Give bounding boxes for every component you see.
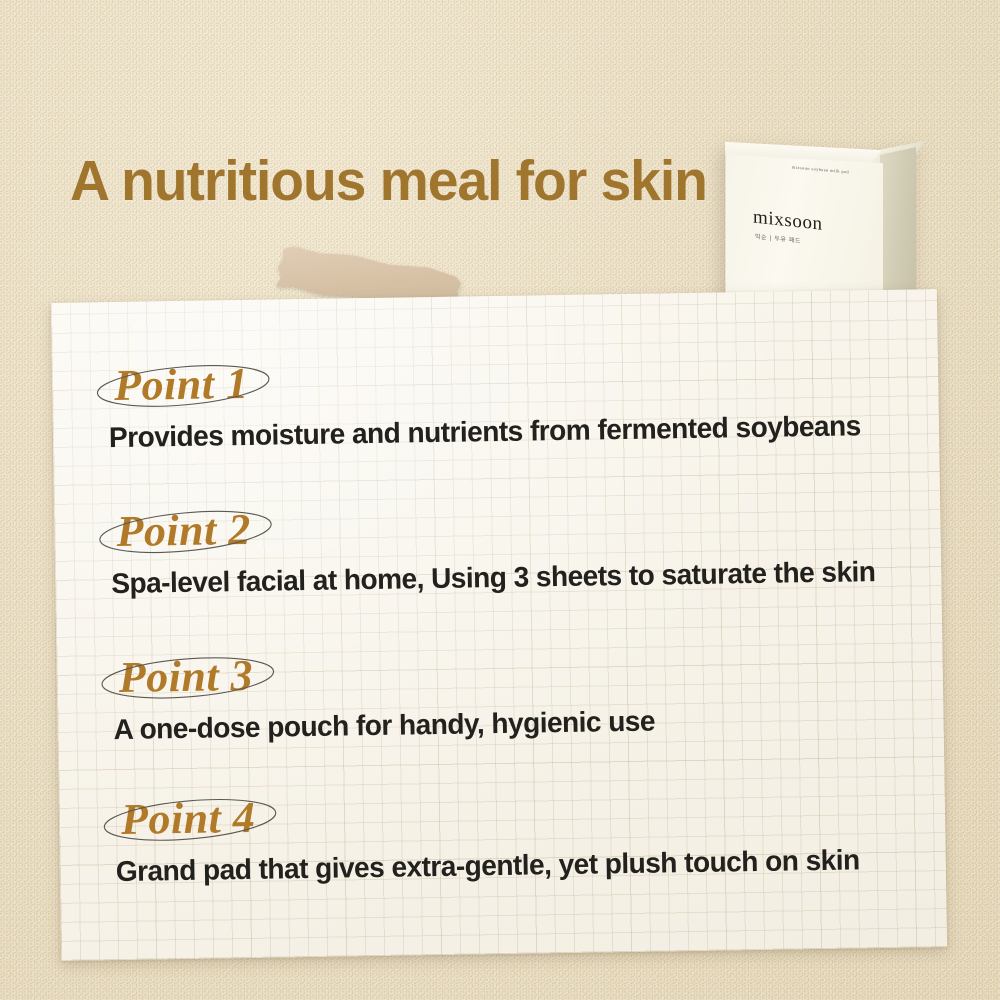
point-label-4: Point 4 — [115, 790, 262, 848]
point-item-2: Point 2 Spa-level facial at home, Using … — [110, 491, 921, 601]
point-label-1: Point 1 — [108, 356, 255, 414]
point-label-wrap-2: Point 2 — [110, 502, 257, 560]
point-label-2: Point 2 — [110, 502, 257, 560]
point-description-2: Spa-level facial at home, Using 3 sheets… — [111, 556, 909, 602]
package-top-text: mixsoon soybean milk pad — [792, 164, 849, 174]
point-label-wrap-3: Point 3 — [112, 648, 259, 706]
product-infographic: A nutritious meal for skin #soybeanmilkp… — [0, 0, 1000, 1000]
point-item-4: Point 4 Grand pad that gives extra-gentl… — [115, 779, 926, 889]
point-item-1: Point 1 Provides moisture and nutrients … — [108, 345, 919, 455]
point-label-3: Point 3 — [112, 648, 259, 706]
point-item-3: Point 3 A one-dose pouch for handy, hygi… — [112, 637, 923, 747]
point-description-4: Grand pad that gives extra-gentle, yet p… — [116, 844, 914, 890]
note-paper-card: Point 1 Provides moisture and nutrients … — [51, 289, 947, 961]
point-label-wrap-1: Point 1 — [108, 356, 255, 414]
point-label-wrap-4: Point 4 — [115, 790, 262, 848]
point-description-3: A one-dose pouch for handy, hygienic use — [113, 702, 911, 748]
brand-korean-subtitle: 믹순 | 두유 패드 — [755, 231, 801, 245]
point-description-1: Provides moisture and nutrients from fer… — [109, 410, 907, 456]
